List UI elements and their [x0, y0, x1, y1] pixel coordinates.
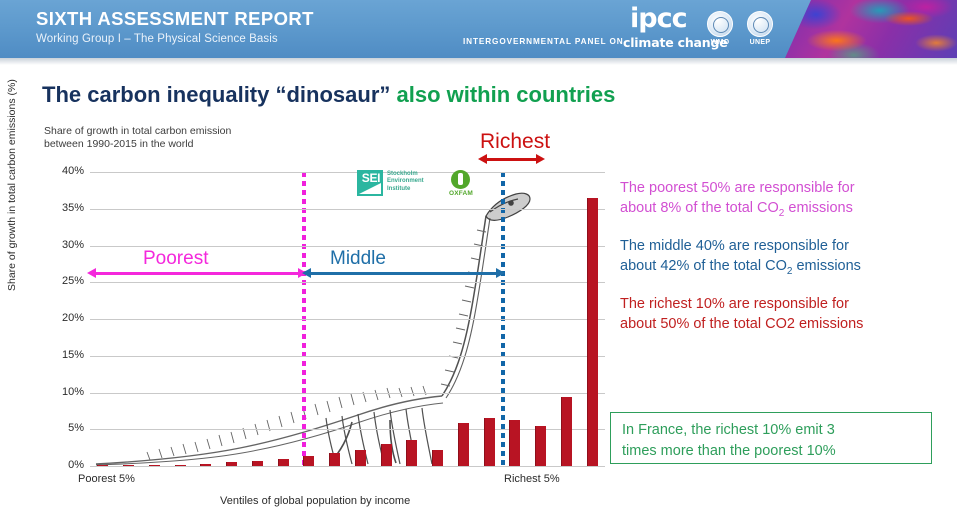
arrow-middle-head-left — [302, 268, 311, 278]
wmo-logo: WMO — [703, 11, 737, 53]
y-tick-label: 30% — [38, 239, 84, 251]
satellite-imagery-decoration — [785, 0, 957, 58]
unep-seal-icon — [747, 11, 773, 37]
y-tick-label: 15% — [38, 349, 84, 361]
sei-logo-text-line: Environment — [387, 178, 424, 185]
y-tick-label: 25% — [38, 275, 84, 287]
header-shadow — [0, 58, 957, 65]
gridline — [90, 393, 605, 394]
sei-logo-text: StockholmEnvironmentInstitute — [387, 171, 424, 193]
unep-label: UNEP — [743, 39, 777, 46]
slide-root: SIXTH ASSESSMENT REPORT Working Group I … — [0, 0, 957, 522]
ipcc-tagline-prefix: INTERGOVERNMENTAL PANEL ON — [463, 37, 624, 46]
oxfam-mark-icon — [451, 170, 470, 189]
unep-logo: UNEP — [743, 11, 777, 53]
arrow-richest-head-left — [478, 154, 487, 164]
gridline — [90, 429, 605, 430]
chart-bar — [123, 465, 134, 467]
france-callout-line2: times more than the poorest 10% — [622, 441, 836, 462]
chart-bar — [406, 440, 417, 466]
ipcc-wordmark: ipcc — [630, 5, 687, 32]
x-tick-richest: Richest 5% — [504, 473, 560, 485]
segment-label-richest: Richest — [480, 130, 550, 154]
chart-bar — [175, 465, 186, 467]
chart-bar — [561, 397, 572, 466]
chart-bar — [458, 423, 469, 466]
x-axis-title: Ventiles of global population by income — [220, 495, 410, 507]
ipcc-logo: ipcc INTERGOVERNMENTAL PANEL ON climate … — [455, 4, 745, 54]
note-middle-line2-b: emissions — [792, 258, 861, 274]
page-title: The carbon inequality “dinosaur” also wi… — [42, 82, 615, 108]
arrow-middle — [310, 272, 500, 275]
gridline — [90, 209, 605, 210]
chart-bar — [97, 465, 108, 467]
chart-figure: Share of growth in total carbon emission… — [30, 125, 610, 510]
gridline — [90, 466, 605, 467]
arrow-richest-head-right — [536, 154, 545, 164]
note-poorest-line2-b: emissions — [784, 200, 853, 216]
arrow-poorest — [95, 272, 302, 275]
x-tick-poorest: Poorest 5% — [78, 473, 135, 485]
working-group-subtitle: Working Group I – The Physical Science B… — [36, 33, 278, 45]
segment-label-poorest: Poorest — [143, 248, 208, 270]
gridline — [90, 246, 605, 247]
sei-logo: SEI StockholmEnvironmentInstitute — [357, 170, 435, 200]
y-tick-label: 5% — [38, 422, 84, 434]
note-richest: The richest 10% are responsible for abou… — [620, 294, 863, 334]
chart-bar — [381, 444, 392, 466]
oxfam-logo: OXFAM — [443, 170, 483, 200]
chart-caption-line: between 1990-2015 in the world — [44, 138, 231, 151]
chart-bar — [303, 456, 314, 466]
chart-bar — [278, 459, 289, 466]
note-middle-line1: The middle 40% are responsible for — [620, 236, 861, 256]
chart-bar — [484, 418, 495, 467]
wmo-seal-icon — [707, 11, 733, 37]
france-callout-box: In France, the richest 10% emit 3 times … — [610, 412, 932, 464]
note-poorest-line1: The poorest 50% are responsible for — [620, 178, 855, 198]
chart-bar — [432, 450, 443, 466]
note-poorest-line2-a: about 8% of the total CO — [620, 200, 779, 216]
y-axis-title: Share of growth in total carbon emission… — [6, 91, 18, 291]
chart-bar — [149, 465, 160, 467]
chart-bar — [509, 420, 520, 466]
gridline — [90, 282, 605, 283]
report-title: SIXTH ASSESSMENT REPORT — [36, 8, 314, 30]
arrow-poorest-head-left — [87, 268, 96, 278]
france-callout-text: In France, the richest 10% emit 3 times … — [622, 420, 836, 462]
y-tick-label: 35% — [38, 202, 84, 214]
chart-caption: Share of growth in total carbon emission… — [44, 125, 231, 151]
chart-bar — [226, 462, 237, 466]
note-richest-line2: about 50% of the total CO2 emissions — [620, 314, 863, 334]
france-callout-line1: In France, the richest 10% emit 3 — [622, 420, 836, 441]
y-tick-label: 20% — [38, 312, 84, 324]
gridline — [90, 172, 605, 173]
plot-area: 0%5%10%15%20%25%30%35%40% — [90, 172, 605, 466]
chart-caption-line: Share of growth in total carbon emission — [44, 125, 231, 138]
y-tick-label: 10% — [38, 386, 84, 398]
sei-letters: SEI — [358, 171, 384, 185]
chart-bar — [535, 426, 546, 466]
gridline — [90, 356, 605, 357]
arrow-middle-head-right — [496, 268, 505, 278]
wmo-label: WMO — [703, 39, 737, 46]
chart-bar — [252, 461, 263, 466]
note-richest-line1: The richest 10% are responsible for — [620, 294, 863, 314]
segment-label-middle: Middle — [330, 248, 386, 270]
chart-bar — [355, 450, 366, 466]
note-middle: The middle 40% are responsible for about… — [620, 236, 861, 282]
note-poorest: The poorest 50% are responsible for abou… — [620, 178, 855, 224]
arrow-richest — [486, 158, 540, 161]
chart-bar — [587, 198, 598, 466]
oxfam-logo-text: OXFAM — [443, 190, 479, 197]
page-title-part1: The carbon inequality “dinosaur” — [42, 82, 397, 107]
gridline — [90, 319, 605, 320]
y-tick-label: 40% — [38, 165, 84, 177]
chart-bar — [329, 453, 340, 466]
page-title-part2: also within countries — [397, 82, 616, 107]
note-poorest-line2: about 8% of the total CO2 emissions — [620, 198, 855, 224]
sei-logo-text-line: Institute — [387, 186, 424, 193]
note-middle-line2-a: about 42% of the total CO — [620, 258, 787, 274]
note-middle-line2: about 42% of the total CO2 emissions — [620, 256, 861, 282]
sei-logo-text-line: Stockholm — [387, 171, 424, 178]
chart-bar — [200, 464, 211, 466]
y-tick-label: 0% — [38, 459, 84, 471]
ipcc-header-band: SIXTH ASSESSMENT REPORT Working Group I … — [0, 0, 957, 58]
